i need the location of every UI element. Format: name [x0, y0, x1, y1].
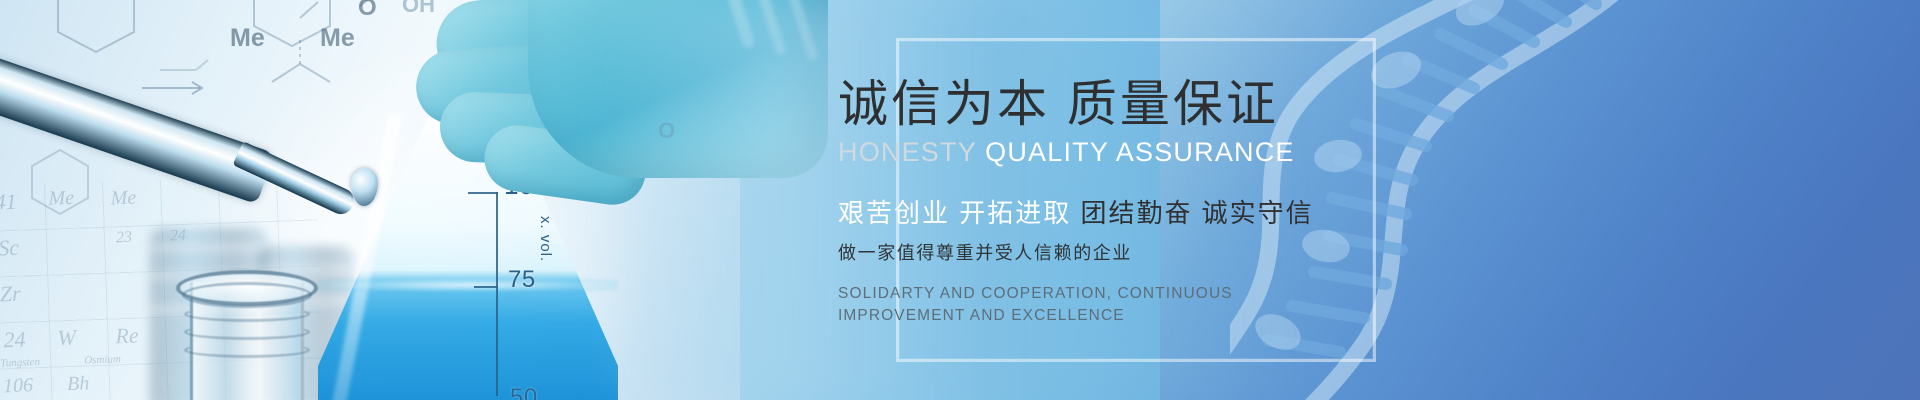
- flask-tick: [474, 286, 498, 288]
- hero-banner: 41 Me Me Sc 23 24 Zr 24 W Re Tungsten Os…: [0, 0, 1920, 400]
- page-title: 诚信为本 质量保证: [838, 78, 1538, 131]
- subtitle-en-dim: HONESTY: [838, 137, 985, 167]
- flask-volume-label: x. vol.: [537, 216, 554, 262]
- pipette-dropper: [0, 44, 402, 234]
- paper-cell: Sc: [0, 235, 19, 262]
- paper-cell: Re: [115, 323, 139, 350]
- paper-cell: Osmium: [84, 353, 121, 366]
- banner-text-block: 诚信为本 质量保证 HONESTY QUALITY ASSURANCE 艰苦创业…: [838, 78, 1538, 328]
- paper-cell: Tungsten: [0, 356, 40, 369]
- slogan-light-part: 艰苦创业 开拓进取: [838, 198, 1080, 228]
- paper-cell: 24: [3, 327, 26, 354]
- flask-marking-50: 50: [510, 384, 538, 400]
- slogan-dark-part: 团结勤奋 诚实守信: [1080, 198, 1313, 228]
- subtitle-en-block: SOLIDARTY AND COOPERATION, CONTINUOUS IM…: [838, 283, 1358, 328]
- subtitle-cn: 做一家值得尊重并受人信赖的企业: [838, 239, 1538, 265]
- flask-scale-line: [496, 296, 498, 396]
- paper-cell: Bh: [67, 372, 90, 396]
- slogan-line: 艰苦创业 开拓进取 团结勤奋 诚实守信: [838, 193, 1538, 230]
- page-subtitle-en: HONESTY QUALITY ASSURANCE: [838, 137, 1538, 168]
- flask-marking-75: 75: [508, 266, 536, 294]
- glass-jar: [176, 248, 318, 400]
- paper-cell: W: [57, 325, 76, 352]
- paper-cell: Zr: [0, 281, 21, 308]
- paper-cell: 106: [3, 374, 34, 398]
- subtitle-en-bright: QUALITY ASSURANCE: [985, 137, 1295, 167]
